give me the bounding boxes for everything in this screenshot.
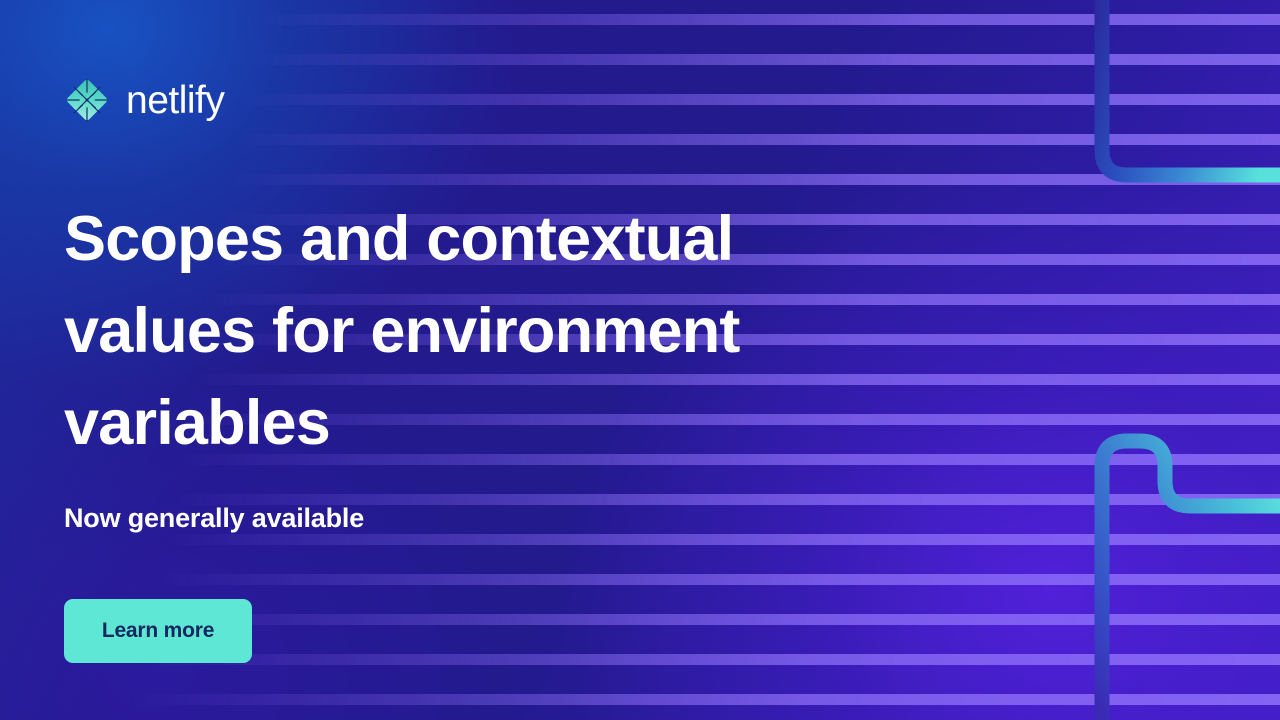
hero-content: netlify Scopes and contextual values for… [0,0,1280,720]
netlify-wordmark: netlify [126,81,224,120]
subheadline: Now generally available [64,502,1216,534]
promo-banner: netlify Scopes and contextual values for… [0,0,1280,720]
netlify-brand-lockup[interactable]: netlify [64,72,224,128]
learn-more-button[interactable]: Learn more [64,599,252,663]
netlify-diamond-logo-icon [64,77,110,123]
page-title: Scopes and contextual values for environ… [64,193,924,469]
